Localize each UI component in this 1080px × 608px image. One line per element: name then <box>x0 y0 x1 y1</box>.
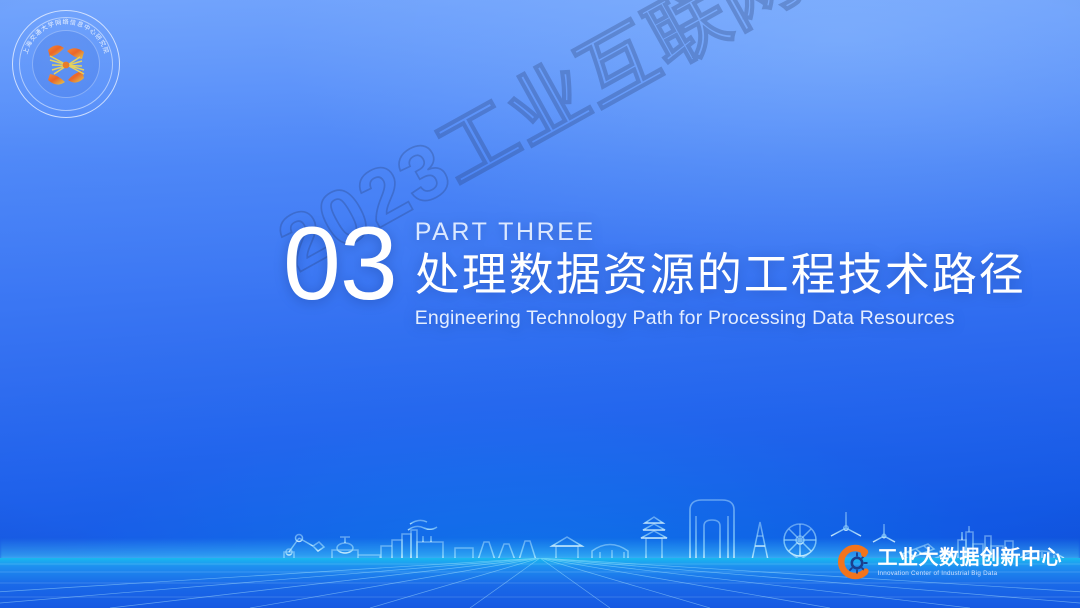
brand-name-english: Innovation Center of Industrial Big Data <box>878 570 1063 577</box>
part-label: PART THREE <box>415 220 1026 245</box>
pagoda-icon <box>641 512 667 560</box>
pipeline-valve-icon <box>332 537 380 560</box>
pavilion-icon <box>552 532 582 560</box>
section-number: 03 <box>283 216 397 313</box>
tower-icon <box>752 515 768 560</box>
brand-logo: 工业大数据创新中心 Innovation Center of Industria… <box>833 542 1063 582</box>
seal-mark <box>48 45 84 84</box>
section-title-english: Engineering Technology Path for Processi… <box>415 307 1026 330</box>
c-gear-icon <box>833 542 873 582</box>
ferris-wheel-icon <box>784 524 816 560</box>
factory-icon <box>381 530 443 560</box>
seal-artwork: 上海交通大学网络信息中心研究院 <box>12 10 120 118</box>
presentation-slide: 上海交通大学网络信息中心研究院 2023工业互联网大会 0 <box>0 0 1080 608</box>
university-seal-logo: 上海交通大学网络信息中心研究院 <box>12 10 120 118</box>
robot-arm-icon <box>284 535 324 561</box>
brand-name-chinese: 工业大数据创新中心 <box>878 547 1063 568</box>
smokestack-icon <box>408 520 437 530</box>
section-title-chinese: 处理数据资源的工程技术路径 <box>415 251 1026 300</box>
seal-arc-text: 上海交通大学网络信息中心研究院 <box>21 18 110 55</box>
section-title-block: 03 PART THREE 处理数据资源的工程技术路径 Engineering … <box>283 212 1026 330</box>
gate-of-the-orient-icon <box>690 500 734 560</box>
